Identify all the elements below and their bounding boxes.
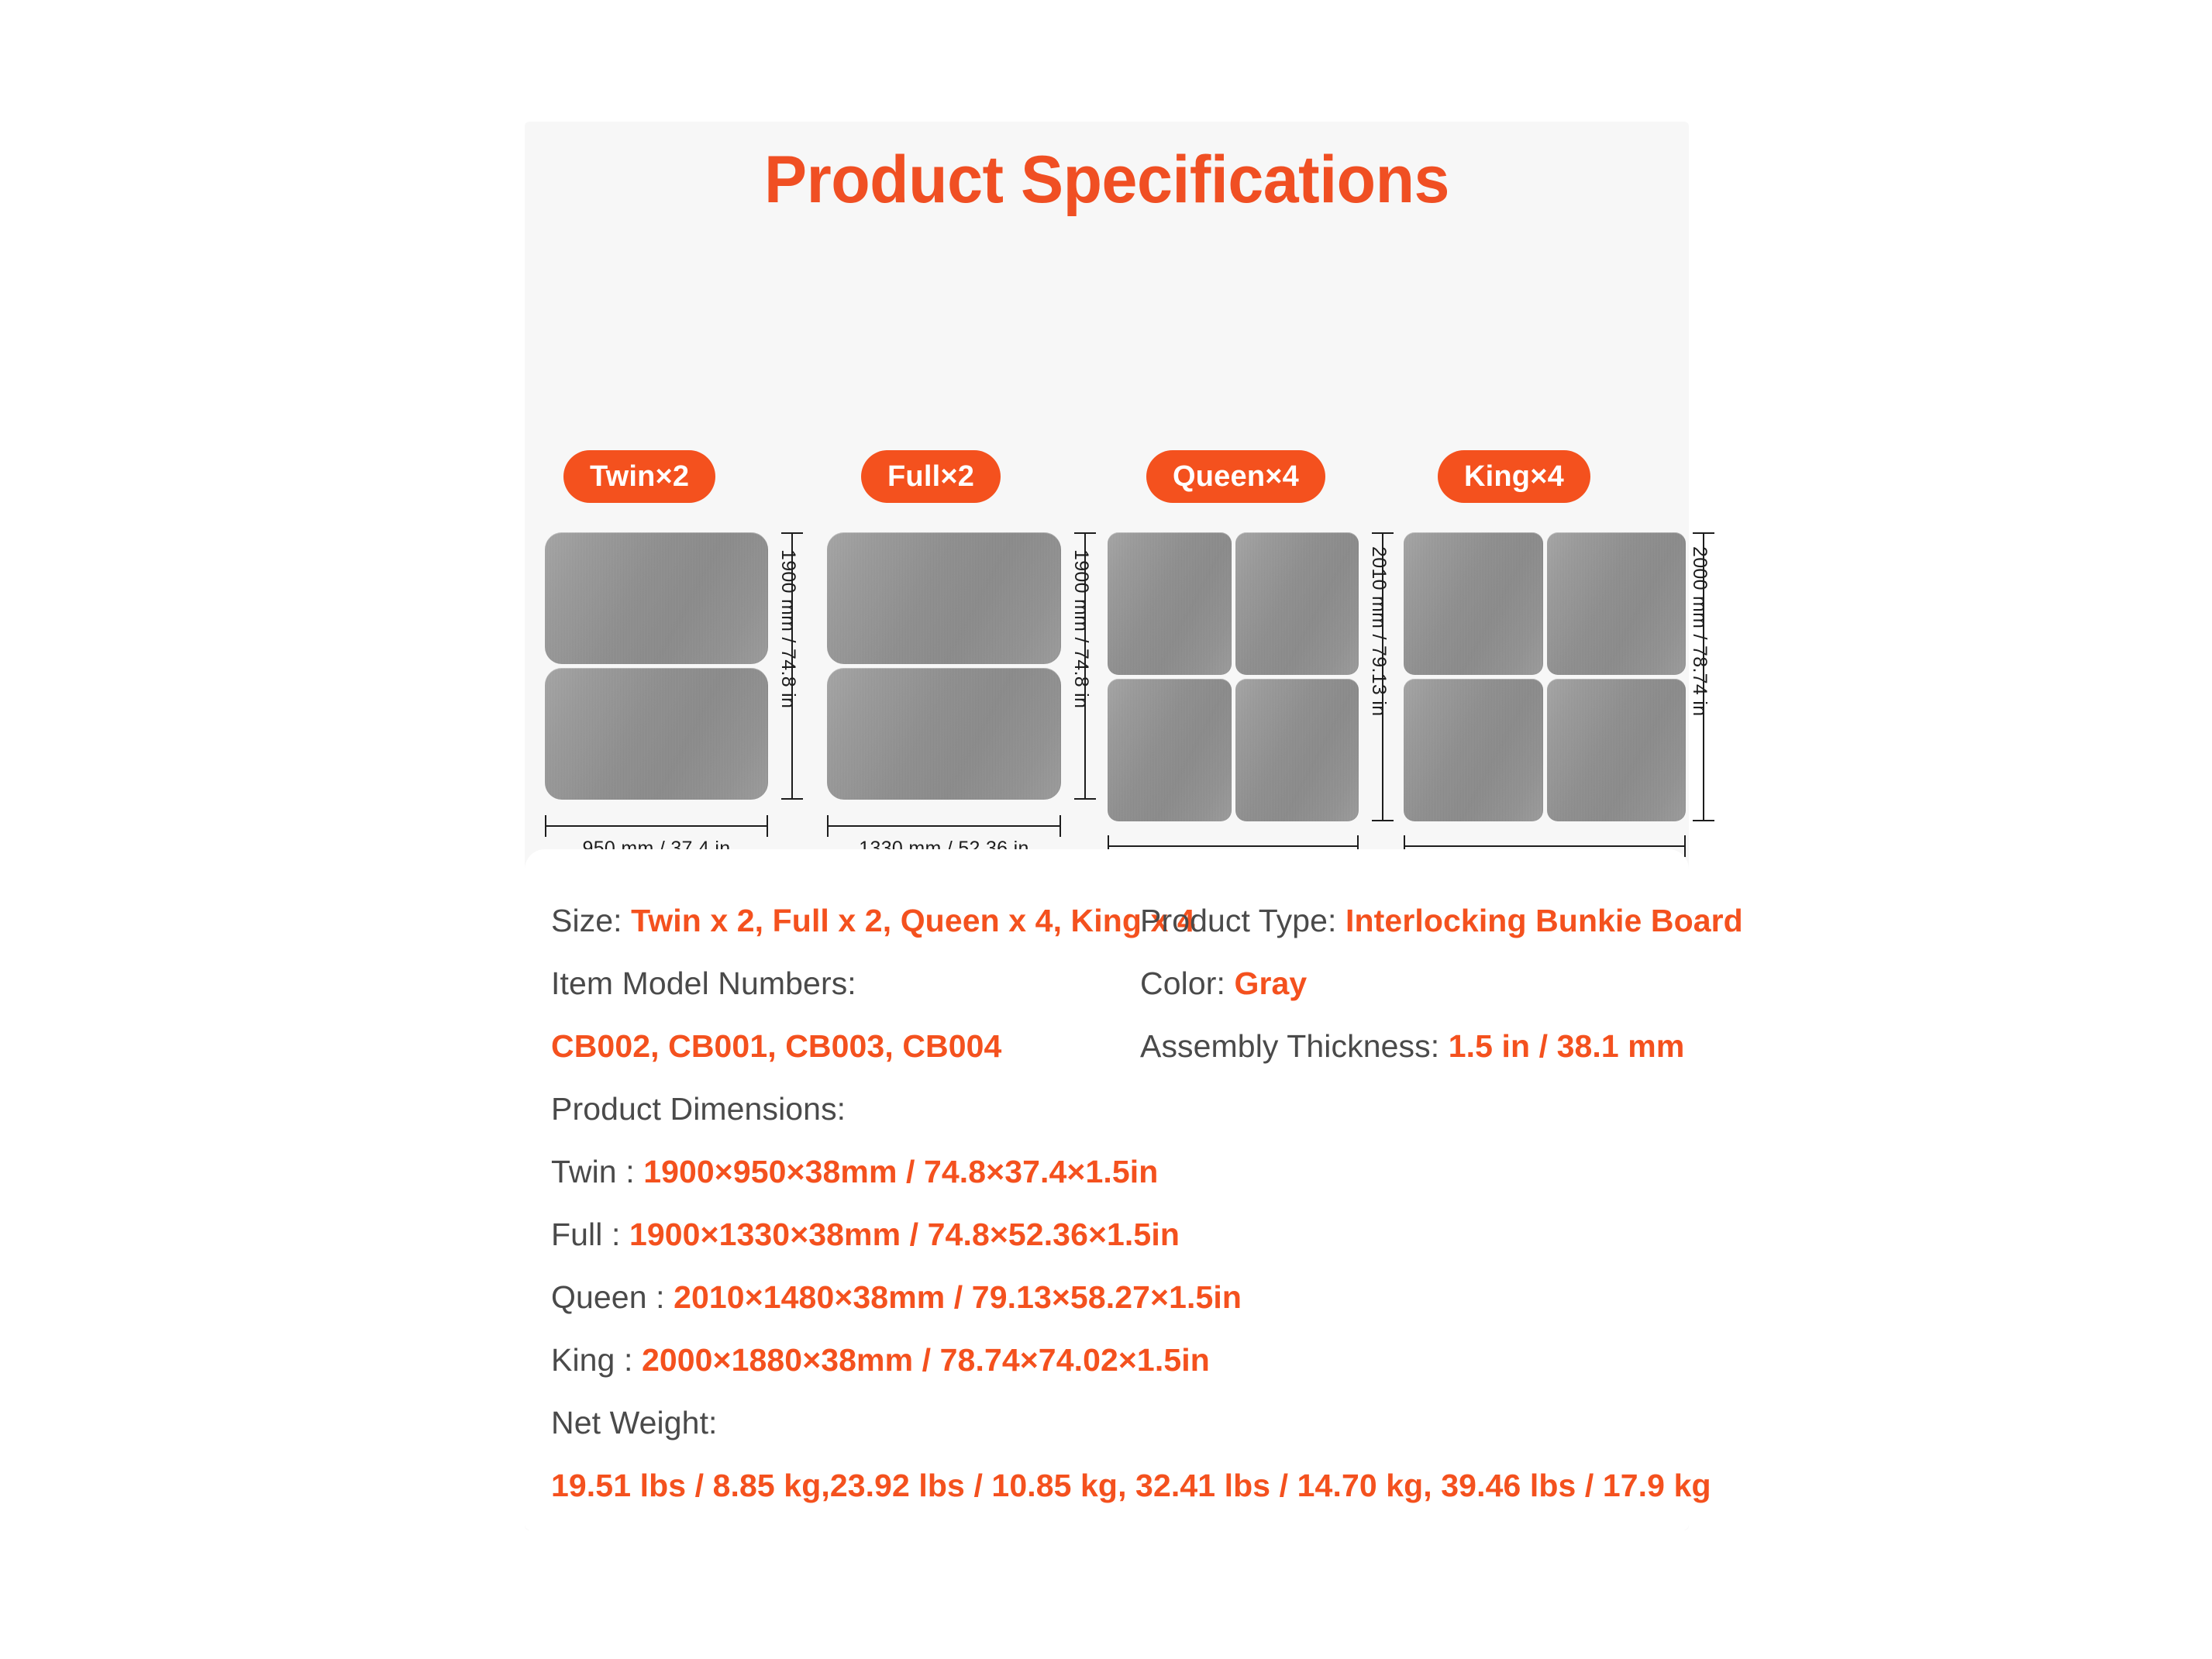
spec-row-assembly-thickness: Assembly Thickness: 1.5 in / 38.1 mm <box>1140 1015 1652 1078</box>
board-assembly-queen <box>1108 532 1359 821</box>
size-diagram-row: Twin×2 1900 mm / 74.8 in 950 mm / 37.4 i… <box>525 377 1689 842</box>
dimension-line-horizontal-full <box>827 825 1061 827</box>
board-panel <box>1404 532 1543 675</box>
product-diagram-queen: Queen×4 2010 mm / 79.13 in 1480 mm / 58.… <box>1108 377 1418 842</box>
dimension-label-height-queen: 2010 mm / 79.13 in <box>1367 546 1390 716</box>
board-assembly-twin <box>545 532 768 800</box>
spec-value-full: 1900×1330×38mm / 74.8×52.36×1.5in <box>629 1217 1180 1252</box>
spec-label-item-model-numbers: Item Model Numbers: <box>551 965 856 1001</box>
spec-label-color: Color: <box>1140 965 1225 1001</box>
size-badge-queen[interactable]: Queen×4 <box>1146 450 1325 503</box>
screenshot-root: Product Specifications Twin×2 1900 mm / … <box>0 0 2212 1659</box>
spec-label-full: Full : <box>551 1217 620 1252</box>
board-assembly-king <box>1404 532 1686 821</box>
specifications-text-panel: Size: Twin x 2, Full x 2, Queen x 4, Kin… <box>525 849 1689 1530</box>
spec-row-product-dimensions: Product Dimensions: <box>551 1078 1140 1141</box>
board-panel <box>827 668 1061 800</box>
dimension-label-height-king: 2000 mm / 78.74 in <box>1688 546 1711 716</box>
page-title: Product Specifications <box>548 142 1666 219</box>
size-badge-full[interactable]: Full×2 <box>861 450 1001 503</box>
spec-label-assembly-thickness: Assembly Thickness: <box>1140 1028 1439 1064</box>
spec-label-twin: Twin : <box>551 1154 635 1189</box>
spec-row-dimensions-full: Full : 1900×1330×38mm / 74.8×52.36×1.5in <box>551 1203 1140 1266</box>
spec-row-dimensions-king: King : 2000×1880×38mm / 78.74×74.02×1.5i… <box>551 1329 1140 1392</box>
product-diagram-twin: Twin×2 1900 mm / 74.8 in 950 mm / 37.4 i… <box>525 377 816 842</box>
board-panel <box>1108 679 1232 821</box>
board-panel <box>545 532 768 664</box>
board-panel <box>1235 679 1359 821</box>
spec-row-size: Size: Twin x 2, Full x 2, Queen x 4, Kin… <box>551 890 1140 952</box>
dimension-label-height-full: 1900 mm / 74.8 in <box>1070 549 1092 708</box>
spec-value-product-type: Interlocking Bunkie Board <box>1345 903 1743 938</box>
spec-row-net-weight: Net Weight: <box>551 1392 1140 1454</box>
spec-value-assembly-thickness: 1.5 in / 38.1 mm <box>1449 1028 1685 1064</box>
spec-row-color: Color: Gray <box>1140 952 1652 1015</box>
spec-row-model-number-values: CB002, CB001, CB003, CB004 <box>551 1015 1140 1078</box>
product-diagram-king: King×4 2000 mm / 78.74 in 1880 mm / 74.0… <box>1418 377 1689 842</box>
spec-label-product-type: Product Type: <box>1140 903 1337 938</box>
specs-column-left: Size: Twin x 2, Full x 2, Queen x 4, Kin… <box>551 890 1140 1517</box>
spec-value-queen: 2010×1480×38mm / 79.13×58.27×1.5in <box>674 1279 1242 1315</box>
spec-value-king: 2000×1880×38mm / 78.74×74.02×1.5in <box>642 1342 1210 1378</box>
spec-label-king: King : <box>551 1342 632 1378</box>
board-panel <box>1547 532 1687 675</box>
spec-label-product-dimensions: Product Dimensions: <box>551 1091 846 1127</box>
size-badge-twin[interactable]: Twin×2 <box>563 450 715 503</box>
board-panel <box>545 668 768 800</box>
specs-column-right: Product Type: Interlocking Bunkie Board … <box>1140 890 1652 1078</box>
product-diagram-full: Full×2 1900 mm / 74.8 in 1330 mm / 52.36… <box>816 377 1108 842</box>
board-panel <box>827 532 1061 664</box>
spec-row-product-type: Product Type: Interlocking Bunkie Board <box>1140 890 1652 952</box>
board-panel <box>1108 532 1232 675</box>
spec-row-item-model-numbers: Item Model Numbers: <box>551 952 1140 1015</box>
spec-label-size: Size: <box>551 903 622 938</box>
spec-label-queen: Queen : <box>551 1279 665 1315</box>
size-badge-king[interactable]: King×4 <box>1438 450 1590 503</box>
spec-row-net-weight-values: 19.51 lbs / 8.85 kg,23.92 lbs / 10.85 kg… <box>551 1454 1140 1517</box>
dimension-line-horizontal-queen <box>1108 845 1359 847</box>
board-panel <box>1404 679 1543 821</box>
spec-label-net-weight: Net Weight: <box>551 1405 718 1440</box>
board-panel <box>1547 679 1687 821</box>
spec-row-dimensions-twin: Twin : 1900×950×38mm / 74.8×37.4×1.5in <box>551 1141 1140 1203</box>
spec-value-size: Twin x 2, Full x 2, Queen x 4, King x 4 <box>631 903 1195 938</box>
board-panel <box>1235 532 1359 675</box>
dimension-label-height-twin: 1900 mm / 74.8 in <box>777 549 799 708</box>
board-assembly-full <box>827 532 1061 800</box>
spec-row-dimensions-queen: Queen : 2010×1480×38mm / 79.13×58.27×1.5… <box>551 1266 1140 1329</box>
dimension-line-horizontal-king <box>1404 845 1686 847</box>
spec-value-color: Gray <box>1234 965 1307 1001</box>
dimension-line-horizontal-twin <box>545 825 768 827</box>
spec-value-twin: 1900×950×38mm / 74.8×37.4×1.5in <box>643 1154 1158 1189</box>
